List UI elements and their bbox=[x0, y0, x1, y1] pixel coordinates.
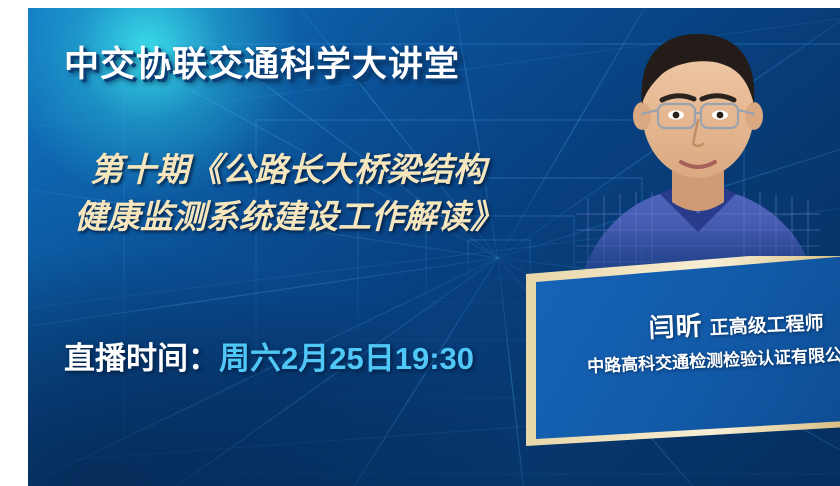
live-time-label: 直播时间： bbox=[64, 341, 219, 376]
episode-subtitle-line2: 健康监测系统建设工作解读》 bbox=[68, 193, 588, 240]
episode-subtitle: 第十期《公路长大桥梁结构 健康监测系统建设工作解读》 bbox=[68, 146, 588, 240]
speaker-panel bbox=[498, 256, 840, 466]
episode-subtitle-line1: 第十期《公路长大桥梁结构 bbox=[68, 146, 588, 193]
live-time: 直播时间：周六2月25日19:30 bbox=[64, 333, 474, 378]
live-time-value: 周六2月25日19:30 bbox=[219, 341, 474, 376]
webinar-poster: 中交协联交通科学大讲堂 第十期《公路长大桥梁结构 健康监测系统建设工作解读》 直… bbox=[28, 8, 840, 486]
page-title: 中交协联交通科学大讲堂 bbox=[64, 36, 460, 87]
